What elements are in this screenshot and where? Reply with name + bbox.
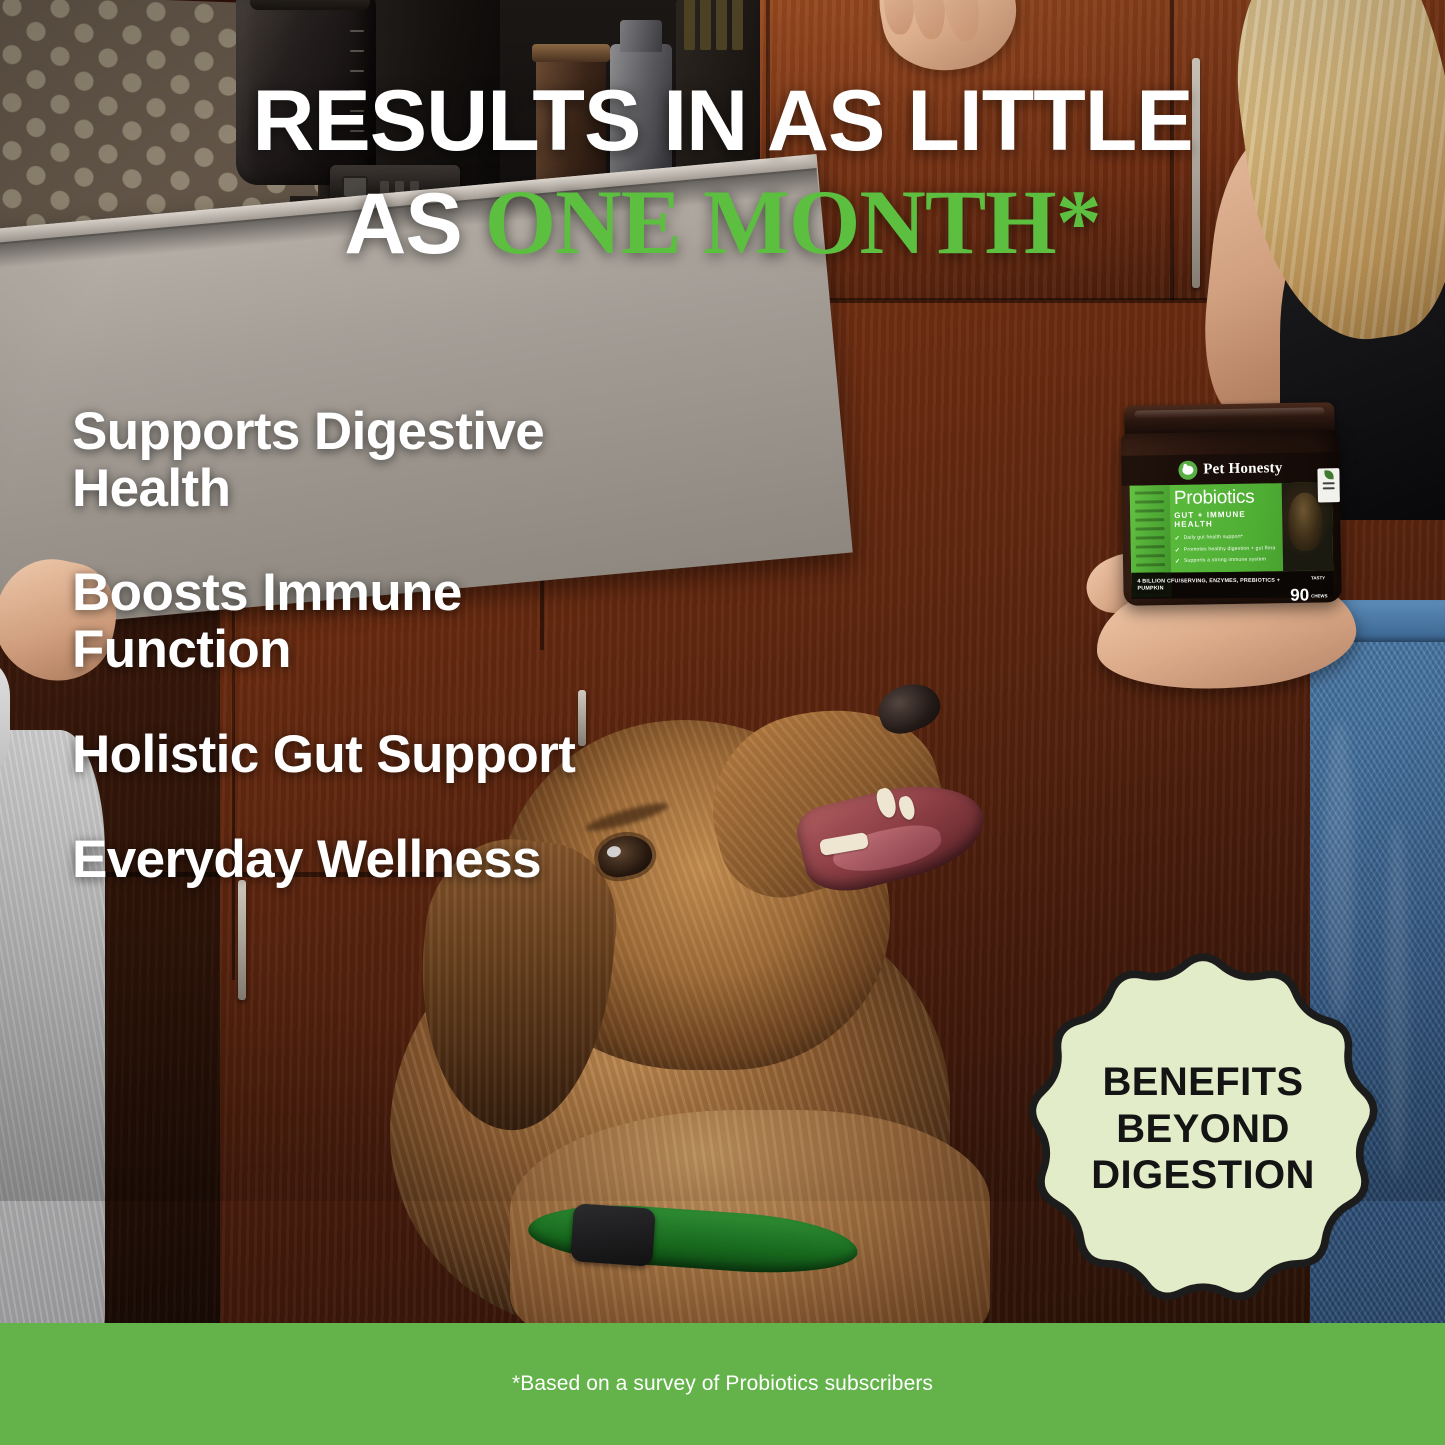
badge-line-3: DIGESTION bbox=[1091, 1154, 1315, 1196]
product-count-wrap: 90 TASTY CHEWS bbox=[1290, 566, 1328, 602]
benefits-beyond-digestion-badge: BENEFITS BEYOND DIGESTION bbox=[1012, 938, 1394, 1320]
product-jar: Pet Honesty Probiotics GUT + IMMUNE HEAL… bbox=[1120, 402, 1341, 606]
product-title: Probiotics bbox=[1174, 487, 1282, 508]
product-count: 90 bbox=[1290, 587, 1309, 602]
cabinet-seam bbox=[232, 560, 235, 980]
natural-seal-icon bbox=[1317, 468, 1340, 502]
hand-left bbox=[0, 549, 126, 691]
count-unit-line2: CHEWS bbox=[1311, 593, 1327, 598]
jar-body: Pet Honesty Probiotics GUT + IMMUNE HEAL… bbox=[1121, 430, 1342, 606]
product-claim: 4 BILLION CFU/SERVING, ENZYMES, PREBIOTI… bbox=[1137, 577, 1290, 593]
jar-label-main: Probiotics GUT + IMMUNE HEALTH Daily gut… bbox=[1174, 487, 1283, 569]
person-left bbox=[0, 560, 170, 1323]
brand-name: Pet Honesty bbox=[1203, 460, 1283, 478]
sweatpants bbox=[0, 730, 105, 1323]
product-bullets: Daily gut health support* Promotes healt… bbox=[1175, 533, 1284, 565]
knife-handles bbox=[684, 0, 743, 50]
footer-band: *Based on a survey of Probiotics subscri… bbox=[0, 1323, 1445, 1445]
badge-line-2: BEYOND bbox=[1116, 1108, 1290, 1150]
badge-text: BENEFITS BEYOND DIGESTION bbox=[1012, 938, 1394, 1320]
carafe-lid bbox=[250, 0, 370, 10]
count-unit-line1: TASTY bbox=[1311, 575, 1325, 580]
pet-honesty-dog-logo-icon bbox=[1178, 460, 1197, 479]
carafe-measure-ticks bbox=[350, 30, 372, 160]
cabinet-seam bbox=[1170, 0, 1174, 300]
jar-claim-bar: 4 BILLION CFU/SERVING, ENZYMES, PREBIOTI… bbox=[1131, 571, 1333, 598]
footer-disclaimer: *Based on a survey of Probiotics subscri… bbox=[512, 1372, 933, 1396]
finger bbox=[907, 0, 948, 41]
marketing-image: Pet Honesty Probiotics GUT + IMMUNE HEAL… bbox=[0, 0, 1445, 1445]
cabinet-pull bbox=[238, 880, 246, 1000]
leaf-icon bbox=[1324, 470, 1333, 479]
product-subtitle: GUT + IMMUNE HEALTH bbox=[1174, 509, 1282, 529]
product-bullet: Promotes healthy digestion + gut flora bbox=[1175, 545, 1283, 554]
product-bullet: Supports a strong immune system bbox=[1175, 556, 1283, 565]
canister-neck bbox=[620, 20, 662, 52]
cabinet-pull bbox=[1192, 58, 1200, 288]
finger bbox=[883, 0, 916, 35]
product-count-unit: TASTY CHEWS bbox=[1311, 566, 1328, 602]
canister-lid bbox=[532, 44, 610, 62]
collar-buckle bbox=[570, 1203, 656, 1267]
badge-line-1: BENEFITS bbox=[1103, 1061, 1304, 1103]
dog-subject bbox=[380, 640, 1000, 1323]
product-bullet: Daily gut health support* bbox=[1175, 533, 1283, 542]
jar-brand-bar: Pet Honesty bbox=[1121, 452, 1339, 486]
